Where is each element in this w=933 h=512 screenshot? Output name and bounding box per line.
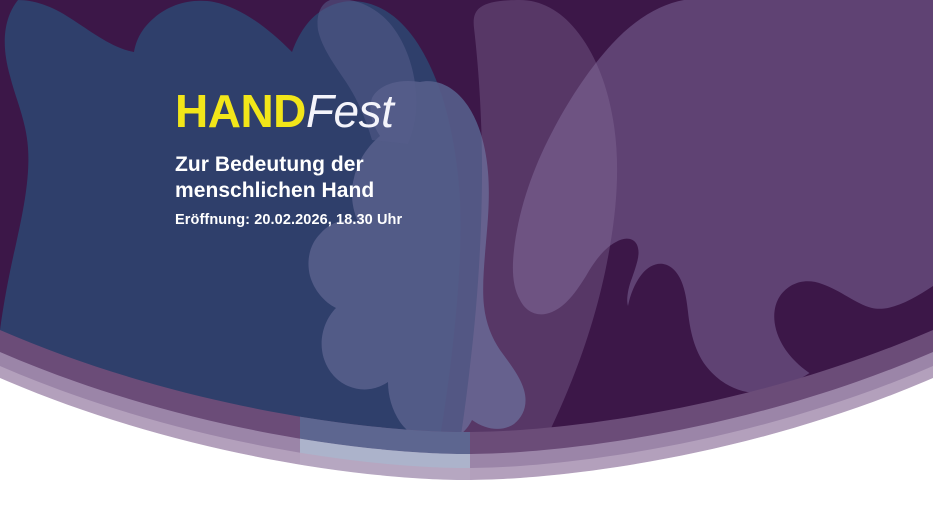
page-title: HANDFest: [175, 88, 655, 134]
subtitle-line-1: Zur Bedeutung der: [175, 152, 655, 178]
poster-canvas: HANDFest Zur Bedeutung der menschlichen …: [0, 0, 933, 512]
opening-info: Eröffnung: 20.02.2026, 18.30 Uhr: [175, 212, 655, 228]
subtitle-line-2: menschlichen Hand: [175, 178, 655, 204]
title-word-hand: HAND: [175, 85, 306, 137]
poster-artwork: [0, 0, 933, 512]
title-word-fest: Fest: [306, 85, 393, 137]
poster-text-block: HANDFest Zur Bedeutung der menschlichen …: [175, 88, 655, 228]
